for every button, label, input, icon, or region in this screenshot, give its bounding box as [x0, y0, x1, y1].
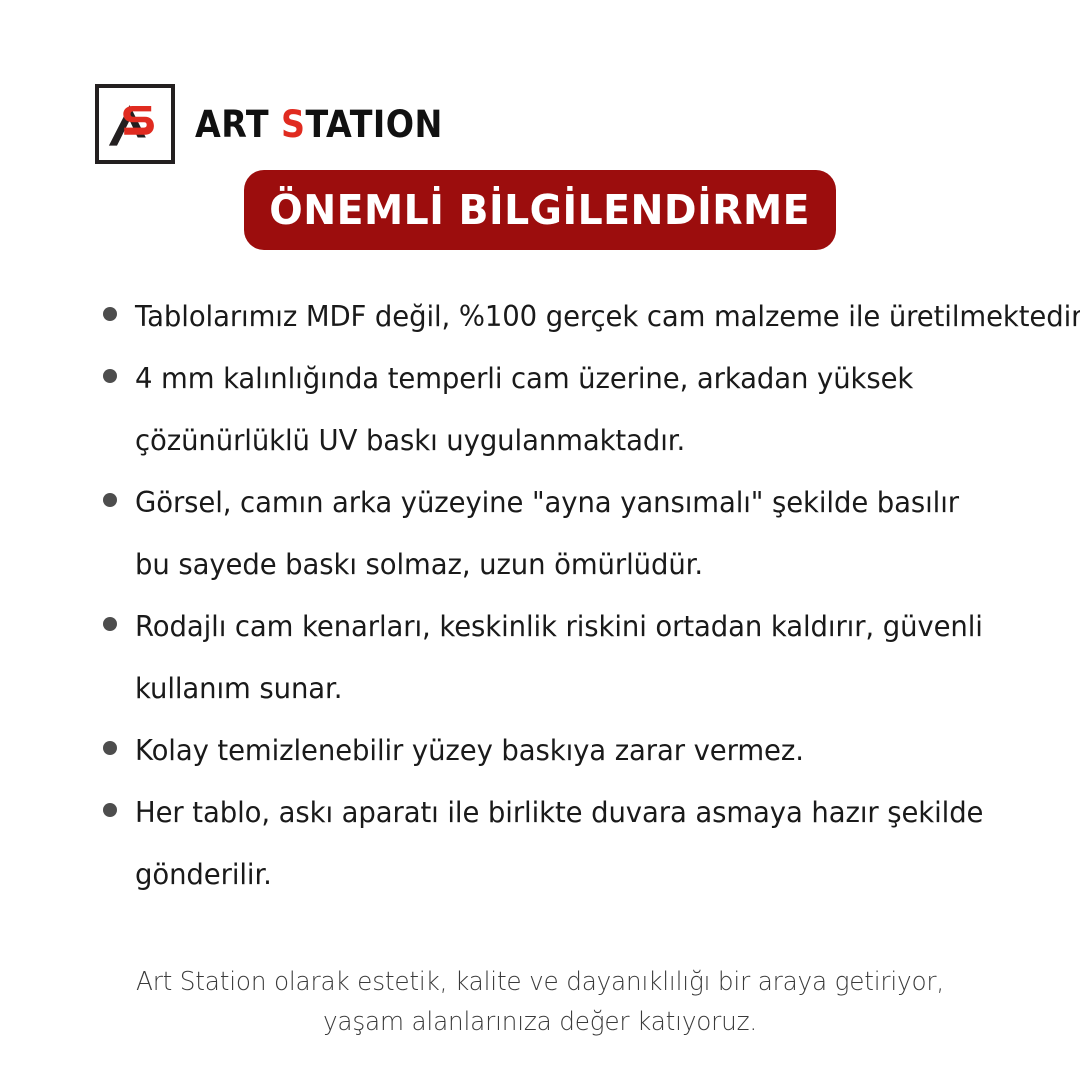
bullet-dot-icon — [103, 741, 117, 755]
bullet-dot-icon — [103, 307, 117, 321]
list-item-line: Her tablo, askı aparatı ile birlikte duv… — [135, 782, 999, 844]
as-monogram-icon — [95, 84, 175, 164]
list-item: Kolay temizlenebilir yüzey baskıya zarar… — [100, 720, 1030, 782]
list-item-line: gönderilir. — [135, 844, 999, 906]
list-item-line: Rodajlı cam kenarları, keskinlik riskini… — [135, 596, 999, 658]
banner-title: ÖNEMLİ BİLGİLENDİRME — [270, 190, 811, 231]
list-item: 4 mm kalınlığında temperli cam üzerine, … — [100, 348, 1030, 472]
list-item-line: Kolay temizlenebilir yüzey baskıya zarar… — [135, 720, 999, 782]
brand-logo: ART STATION — [95, 84, 470, 164]
bullet-list: Tablolarımız MDF değil, %100 gerçek cam … — [100, 286, 1030, 906]
wordmark-part-art: ART — [195, 103, 281, 146]
footer-line: Art Station olarak estetik, kalite ve da… — [27, 962, 1053, 1002]
bullet-dot-icon — [103, 803, 117, 817]
list-item-line: çözünürlüklü UV baskı uygulanmaktadır. — [135, 410, 999, 472]
list-item: Tablolarımız MDF değil, %100 gerçek cam … — [100, 286, 1030, 348]
brand-wordmark: ART STATION — [195, 106, 443, 143]
list-item-line: Görsel, camın arka yüzeyine "ayna yansım… — [135, 472, 999, 534]
list-item-line: bu sayede baskı solmaz, uzun ömürlüdür. — [135, 534, 999, 596]
list-item-line: Tablolarımız MDF değil, %100 gerçek cam … — [135, 286, 999, 348]
info-poster: ART STATION ÖNEMLİ BİLGİLENDİRME Tablola… — [0, 0, 1080, 1080]
wordmark-accent-s: S — [281, 103, 305, 146]
list-item: Her tablo, askı aparatı ile birlikte duv… — [100, 782, 1030, 906]
bullet-dot-icon — [103, 493, 117, 507]
list-item-line: 4 mm kalınlığında temperli cam üzerine, … — [135, 348, 999, 410]
wordmark-part-tation: TATION — [305, 103, 442, 146]
bullet-dot-icon — [103, 617, 117, 631]
list-item: Rodajlı cam kenarları, keskinlik riskini… — [100, 596, 1030, 720]
footer-tagline: Art Station olarak estetik, kalite ve da… — [0, 962, 1080, 1042]
list-item: Görsel, camın arka yüzeyine "ayna yansım… — [100, 472, 1030, 596]
bullet-dot-icon — [103, 369, 117, 383]
footer-line: yaşam alanlarınıza değer katıyoruz. — [27, 1002, 1053, 1042]
list-item-line: kullanım sunar. — [135, 658, 999, 720]
banner-important-notice: ÖNEMLİ BİLGİLENDİRME — [244, 170, 836, 250]
